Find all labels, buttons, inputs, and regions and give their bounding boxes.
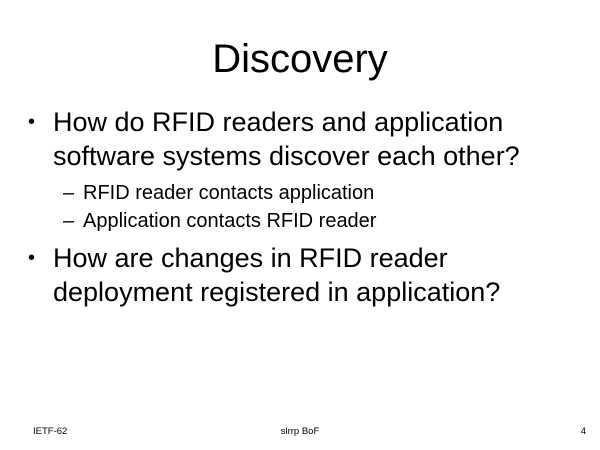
sub-bullet-item-2-label: Application contacts RFID reader bbox=[83, 207, 572, 235]
bullet-dot-icon: • bbox=[28, 105, 53, 139]
bullet-dot-icon: • bbox=[28, 241, 53, 275]
sub-bullet-group: – RFID reader contacts application – App… bbox=[28, 179, 572, 235]
footer-page-number: 4 bbox=[581, 425, 586, 439]
bullet-item-2-label: How are changes in RFID reader deploymen… bbox=[53, 241, 523, 309]
sub-bullet-item-1-label: RFID reader contacts application bbox=[83, 179, 572, 207]
sub-bullet-item-1: – RFID reader contacts application bbox=[28, 179, 572, 207]
bullet-item-1-label: How do RFID readers and application soft… bbox=[53, 105, 523, 173]
page-title: Discovery bbox=[0, 36, 600, 82]
bullet-item-1: • How do RFID readers and application so… bbox=[28, 105, 572, 173]
slide-body: • How do RFID readers and application so… bbox=[28, 105, 572, 309]
slide-footer: IETF-62 slrrp BoF 4 bbox=[0, 425, 600, 441]
bullet-dash-icon: – bbox=[63, 179, 83, 207]
slide: Discovery • How do RFID readers and appl… bbox=[0, 0, 600, 450]
sub-bullet-item-2: – Application contacts RFID reader bbox=[28, 207, 572, 235]
footer-session-label: slrrp BoF bbox=[0, 425, 600, 439]
bullet-dash-icon: – bbox=[63, 207, 83, 235]
bullet-item-2: • How are changes in RFID reader deploym… bbox=[28, 241, 572, 309]
